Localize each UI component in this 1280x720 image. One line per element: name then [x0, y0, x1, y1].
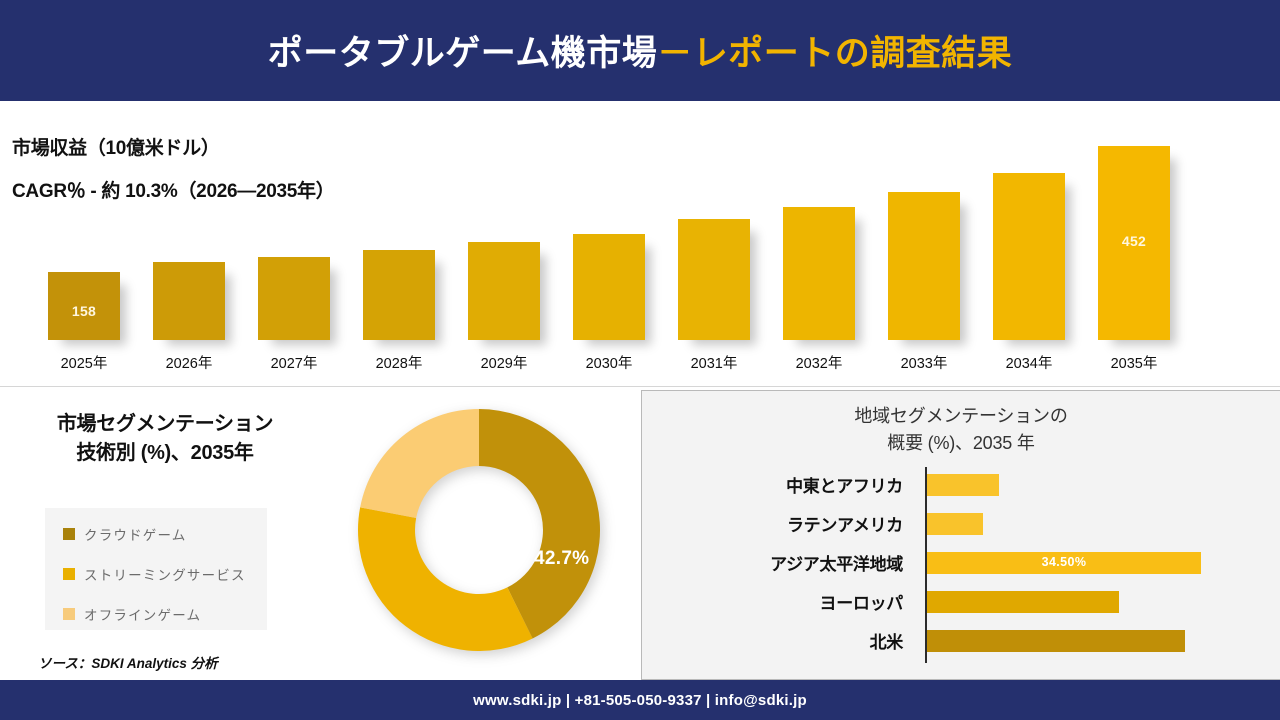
donut-legend-label: クラウドゲーム: [84, 524, 187, 544]
bar-x-axis-label: 2034年: [985, 340, 1073, 373]
bar-column: 2027年: [258, 257, 330, 340]
bar-column: 2034年: [993, 173, 1065, 340]
regional-bar-chart: 中東とアフリカラテンアメリカアジア太平洋地域34.50%ヨーロッパ北米: [642, 463, 1280, 673]
donut-legend-label: オフラインゲーム: [84, 604, 201, 624]
bar-x-axis-label: 2033年: [880, 340, 968, 373]
region-bar[interactable]: 34.50%: [927, 552, 1201, 574]
bar-x-axis-label: 2026年: [145, 340, 233, 373]
bar-x-axis-label: 2032年: [775, 340, 863, 373]
region-bar-label: 北米: [642, 628, 917, 653]
bar-column: 2031年: [678, 219, 750, 340]
region-bar[interactable]: [927, 630, 1185, 652]
market-revenue-section: 市場収益（10億米ドル） CAGR％ - 約 10.3%（2026―2035年）…: [0, 101, 1280, 386]
bar-x-axis-label: 2029年: [460, 340, 548, 373]
bar-x-axis-label: 2030年: [565, 340, 653, 373]
page-title-main: ポータブルゲーム機市場: [268, 34, 657, 73]
bar-column: 1582025年: [48, 272, 120, 340]
technology-segmentation-panel: 市場セグメンテーション 技術別 (%)、2035年 クラウドゲームストリーミング…: [0, 390, 636, 680]
donut-legend-item[interactable]: クラウドゲーム: [63, 524, 267, 544]
legend-swatch-icon: [63, 608, 75, 620]
bar-rect: [258, 257, 330, 340]
header-band: ポータブルゲーム機市場－レポートの調査結果: [0, 0, 1280, 101]
legend-swatch-icon: [63, 568, 75, 580]
regional-segmentation-panel: 地域セグメンテーションの 概要 (%)、2035 年 中東とアフリカラテンアメリ…: [641, 390, 1280, 680]
bar-x-axis-label: 2031年: [670, 340, 758, 373]
bar-x-axis-label: 2035年: [1090, 340, 1178, 373]
donut-chart-svg: [338, 400, 620, 672]
bar-rect: [888, 192, 960, 340]
donut-title-line1: 市場セグメンテーション: [57, 413, 273, 435]
region-bar-label: アジア太平洋地域: [642, 550, 917, 575]
region-bar-row: 中東とアフリカ: [642, 465, 1280, 504]
region-title-line2: 概要 (%)、2035 年: [887, 433, 1034, 453]
donut-legend-label: ストリーミングサービス: [84, 564, 246, 584]
region-bar-row: アジア太平洋地域34.50%: [642, 543, 1280, 582]
region-bar-label: ラテンアメリカ: [642, 511, 917, 536]
kpi-cagr-label: CAGR％ - 約 10.3%（2026―2035年）: [12, 176, 334, 203]
divider-top: [0, 386, 1280, 387]
donut-title-line2: 技術別 (%)、2035年: [76, 442, 253, 464]
bar-x-axis-label: 2027年: [250, 340, 338, 373]
region-bar[interactable]: [927, 513, 983, 535]
bar-value-label: 158: [48, 303, 120, 319]
bar-column: 2029年: [468, 242, 540, 340]
region-bar-row: ラテンアメリカ: [642, 504, 1280, 543]
bar-rect: 452: [1098, 146, 1170, 340]
donut-chart: 42.7%: [338, 400, 620, 672]
bar-column: 2030年: [573, 234, 645, 340]
region-bar[interactable]: [927, 474, 999, 496]
bar-x-axis-label: 2028年: [355, 340, 443, 373]
region-bar-value-label: 34.50%: [927, 555, 1201, 569]
bar-rect: [993, 173, 1065, 340]
region-bar[interactable]: [927, 591, 1119, 613]
bar-rect: [153, 262, 225, 340]
bar-column: 2033年: [888, 192, 960, 340]
page-title: ポータブルゲーム機市場－レポートの調査結果: [268, 25, 1012, 76]
bar-column: 4522035年: [1098, 146, 1170, 340]
bar-rect: [363, 250, 435, 340]
bar-column: 2026年: [153, 262, 225, 340]
region-chart-title: 地域セグメンテーションの 概要 (%)、2035 年: [642, 403, 1280, 457]
bar-rect: [783, 207, 855, 340]
bar-value-label: 452: [1098, 233, 1170, 249]
kpi-revenue-label: 市場収益（10億米ドル）: [12, 133, 334, 160]
footer-contact-text: www.sdki.jp | +81-505-050-9337 | info@sd…: [473, 692, 807, 709]
region-bar-row: 北米: [642, 621, 1280, 660]
donut-segment[interactable]: [358, 507, 533, 651]
donut-primary-value-label: 42.7%: [534, 548, 589, 570]
region-bar-row: ヨーロッパ: [642, 582, 1280, 621]
bar-x-axis-label: 2025年: [40, 340, 128, 373]
footer-band: www.sdki.jp | +81-505-050-9337 | info@sd…: [0, 680, 1280, 720]
bar-rect: [468, 242, 540, 340]
bar-column: 2028年: [363, 250, 435, 340]
bar-rect: [678, 219, 750, 340]
page-title-accent: －レポートの調査結果: [657, 34, 1012, 73]
legend-swatch-icon: [63, 528, 75, 540]
donut-legend-item[interactable]: ストリーミングサービス: [63, 564, 267, 584]
bar-column: 2032年: [783, 207, 855, 340]
region-bar-label: 中東とアフリカ: [642, 472, 917, 497]
donut-chart-title: 市場セグメンテーション 技術別 (%)、2035年: [0, 410, 330, 468]
region-bar-label: ヨーロッパ: [642, 589, 917, 614]
donut-legend-item[interactable]: オフラインゲーム: [63, 604, 267, 624]
source-note: ソース：SDKI Analytics 分析: [38, 652, 218, 672]
region-title-line1: 地域セグメンテーションの: [854, 406, 1067, 426]
donut-legend: クラウドゲームストリーミングサービスオフラインゲーム: [45, 508, 267, 630]
kpi-block: 市場収益（10億米ドル） CAGR％ - 約 10.3%（2026―2035年）: [12, 133, 334, 203]
donut-segment[interactable]: [360, 409, 479, 518]
bar-rect: 158: [48, 272, 120, 340]
bar-rect: [573, 234, 645, 340]
